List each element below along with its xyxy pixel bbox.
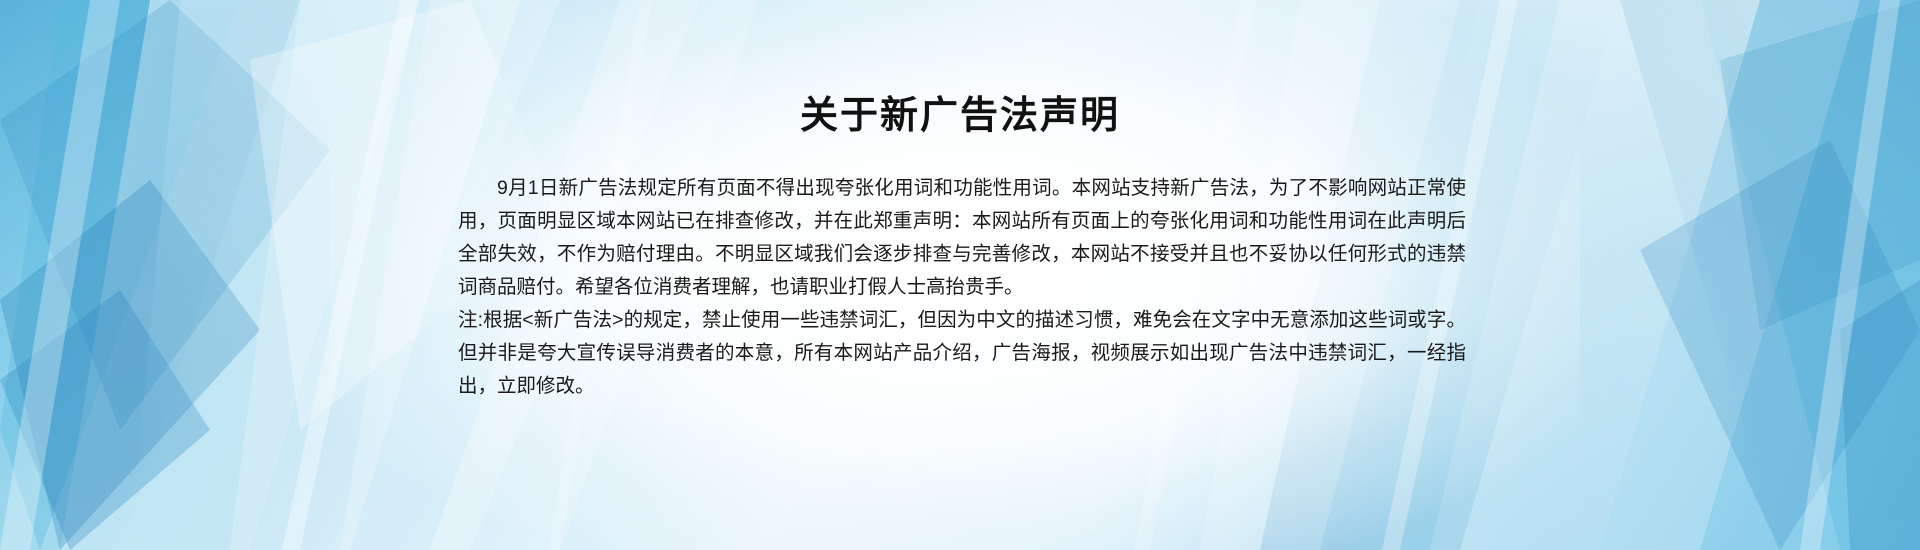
page-title: 关于新广告法声明 xyxy=(0,84,1920,139)
advertising-law-statement-banner: 关于新广告法声明 9月1日新广告法规定所有页面不得出现夸张化用词和功能性用词。本… xyxy=(0,0,1920,550)
statement-body: 9月1日新广告法规定所有页面不得出现夸张化用词和功能性用词。本网站支持新广告法，… xyxy=(458,172,1466,403)
statement-paragraph-note: 注:根据<新广告法>的规定，禁止使用一些违禁词汇，但因为中文的描述习惯，难免会在… xyxy=(458,304,1466,403)
statement-content: 关于新广告法声明 9月1日新广告法规定所有页面不得出现夸张化用词和功能性用词。本… xyxy=(0,0,1920,550)
statement-paragraph-main: 9月1日新广告法规定所有页面不得出现夸张化用词和功能性用词。本网站支持新广告法，… xyxy=(458,172,1466,304)
